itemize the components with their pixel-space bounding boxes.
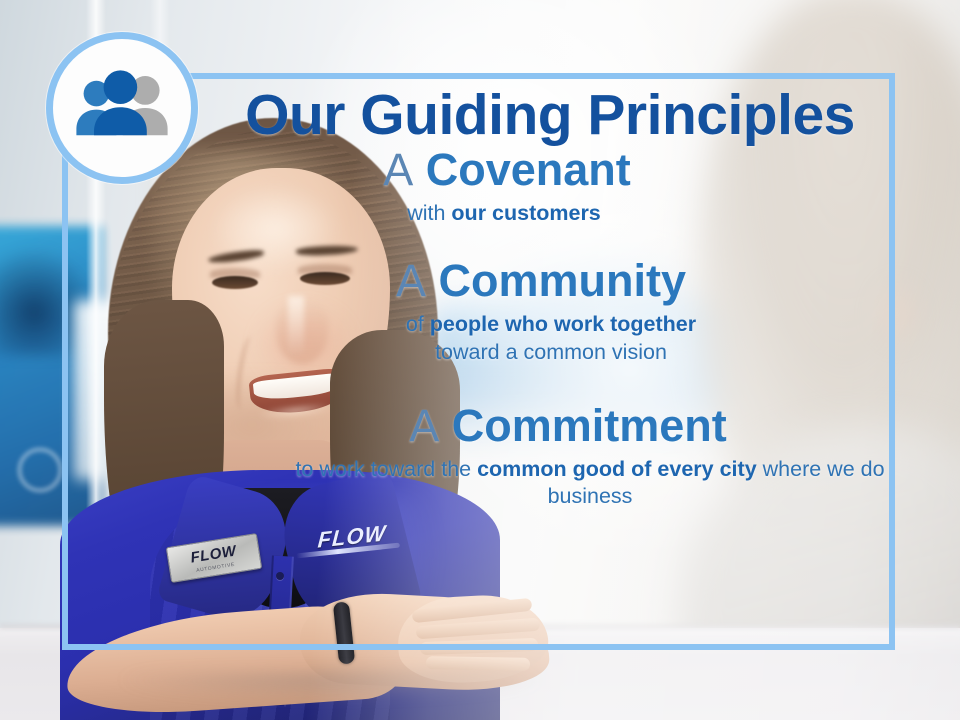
principle-sub-bold: our customers (451, 201, 600, 225)
people-badge-circle (46, 32, 198, 184)
principle-article: A (396, 255, 426, 306)
page-title: Our Guiding Principles (200, 86, 900, 144)
principle-subtitle: to work toward the common good of every … (236, 456, 900, 511)
principle-sub-line2: toward a common vision (435, 340, 667, 364)
principle-heading: A Covenant (200, 146, 814, 194)
principle-keyword: Community (439, 255, 687, 306)
arm-shadow (120, 672, 540, 698)
principle-sub-lead: of (406, 312, 430, 336)
principle-subtitle: of people who work together toward a com… (200, 311, 882, 366)
principle-community: A Community of people who work together … (200, 257, 900, 366)
people-group-icon (70, 69, 174, 147)
principle-sub-bold: people who work together (430, 312, 696, 336)
polo-button (276, 572, 284, 580)
principle-keyword: Commitment (452, 400, 727, 451)
principle-heading: A Community (200, 257, 882, 305)
principle-article: A (409, 400, 439, 451)
principle-heading: A Commitment (236, 402, 900, 450)
principle-article: A (383, 144, 413, 195)
guiding-principles-graphic: FLOW FLOW AUTOMOTIVE (0, 0, 960, 720)
principle-sub-lead: to work toward the (295, 457, 477, 481)
principle-sub-bold: common good of every city (477, 457, 757, 481)
text-content: Our Guiding Principles A Covenant with o… (200, 86, 900, 511)
principle-commitment: A Commitment to work toward the common g… (200, 402, 900, 511)
principle-keyword: Covenant (426, 144, 631, 195)
principle-sub-lead: with (407, 201, 451, 225)
principle-subtitle: with our customers (200, 200, 814, 228)
principle-covenant: A Covenant with our customers (200, 146, 900, 227)
finger (426, 656, 530, 671)
